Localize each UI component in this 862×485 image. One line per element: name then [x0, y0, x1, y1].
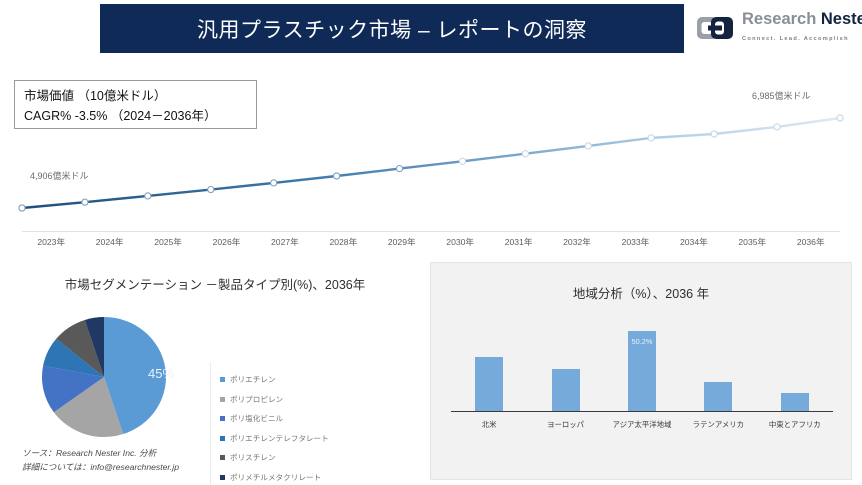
- segmentation-title: 市場セグメンテーション －製品タイプ別(%)、2036年: [10, 262, 420, 295]
- legend-item-label: ポリスチレン: [230, 452, 276, 463]
- legend-item: ポリメチルメタクリレート: [220, 468, 398, 485]
- line-chart-x-axis: 2023年2024年2025年2026年2027年2028年2029年2030年…: [22, 236, 840, 252]
- regional-bar-chart: 50.2% 北米ヨーロッパアジア太平洋地域ラテンアメリカ中東とアフリカ: [451, 321, 833, 433]
- bar-series: 50.2%: [451, 321, 833, 411]
- line-data-point: [711, 131, 717, 137]
- legend-item: ポリエチレンテレフタレート: [220, 429, 398, 449]
- line-data-point: [648, 135, 654, 141]
- regional-analysis-title: 地域分析（%）、2036 年: [431, 263, 851, 304]
- x-axis-tick: 2035年: [723, 236, 781, 252]
- x-axis-tick: 2027年: [256, 236, 314, 252]
- bar-value-label: 50.2%: [631, 337, 652, 346]
- bar: [704, 382, 732, 411]
- legend-swatch-icon: [220, 455, 225, 460]
- line-data-point: [774, 124, 780, 130]
- line-data-point: [334, 173, 340, 179]
- bar: 50.2%: [628, 331, 656, 411]
- legend-item: ポリ塩化ビニル: [220, 409, 398, 429]
- source-line-1: ソース：Research Nester Inc. 分析: [22, 447, 179, 461]
- line-chart-axis-rule: [22, 231, 840, 232]
- bar-chart-x-labels: 北米ヨーロッパアジア太平洋地域ラテンアメリカ中東とアフリカ: [451, 419, 833, 430]
- source-note: ソース：Research Nester Inc. 分析 詳細については：info…: [22, 447, 179, 474]
- line-data-point: [145, 193, 151, 199]
- x-axis-tick: 2025年: [139, 236, 197, 252]
- bar-category-label: 北米: [454, 419, 524, 430]
- line-data-point: [522, 151, 528, 157]
- x-axis-tick: 2028年: [314, 236, 372, 252]
- line-data-point: [837, 115, 843, 121]
- pie-slice-value-label: 45%: [148, 366, 174, 381]
- line-data-point: [271, 180, 277, 186]
- legend-item-label: ポリメチルメタクリレート: [230, 472, 321, 483]
- brand-logo-text: Research Nester Connect. Lead. Accomplis…: [742, 11, 862, 44]
- header-banner: 汎用プラスチック市場 – レポートの洞察: [100, 4, 684, 53]
- x-axis-tick: 2034年: [665, 236, 723, 252]
- legend-swatch-icon: [220, 377, 225, 382]
- bar-category-label: 中東とアフリカ: [760, 419, 830, 430]
- legend-item-label: ポリエチレンテレフタレート: [230, 433, 329, 444]
- legend-swatch-icon: [220, 416, 225, 421]
- line-data-point: [82, 199, 88, 205]
- bar: [552, 369, 580, 411]
- legend-item: ポリスチレン: [220, 448, 398, 468]
- page-title: 汎用プラスチック市場 – レポートの洞察: [197, 14, 587, 44]
- bar: [781, 393, 809, 411]
- bar-column: [454, 321, 524, 411]
- line-start-value-label: 4,906億米ドル: [30, 169, 89, 182]
- legend-item-label: ポリ塩化ビニル: [230, 413, 283, 424]
- legend-item-label: ポリプロピレン: [230, 394, 283, 405]
- x-axis-tick: 2031年: [489, 236, 547, 252]
- report-infographic-page: 汎用プラスチック市場 – レポートの洞察 Research Nester Con…: [0, 0, 862, 485]
- legend-item: ポリプロピレン: [220, 390, 398, 410]
- x-axis-tick: 2033年: [606, 236, 664, 252]
- bar-category-label: ラテンアメリカ: [683, 419, 753, 430]
- x-axis-tick: 2029年: [373, 236, 431, 252]
- legend-divider: [210, 362, 211, 485]
- line-end-value-label: 6,985億米ドル: [752, 89, 811, 102]
- bar-category-label: ヨーロッパ: [531, 419, 601, 430]
- brand-tagline: Connect. Lead. Accomplish: [742, 36, 849, 42]
- legend-item: ポリエチレン: [220, 370, 398, 390]
- legend-item-label: ポリエチレン: [230, 374, 276, 385]
- line-data-point: [459, 158, 465, 164]
- x-axis-tick: 2023年: [22, 236, 80, 252]
- regional-analysis-panel: 地域分析（%）、2036 年 50.2% 北米ヨーロッパアジア太平洋地域ラテンア…: [430, 262, 852, 480]
- bar-category-label: アジア太平洋地域: [607, 419, 677, 430]
- x-axis-tick: 2030年: [431, 236, 489, 252]
- x-axis-tick: 2036年: [781, 236, 839, 252]
- bar-column: 50.2%: [607, 321, 677, 411]
- line-data-point: [396, 166, 402, 172]
- bar-chart-baseline: [451, 411, 833, 412]
- line-data-point: [19, 205, 25, 211]
- segmentation-pie-area: 45% ポリエチレンポリプロピレンポリ塩化ビニルポリエチレンテレフタレートポリス…: [10, 314, 420, 439]
- source-line-2: 詳細については：info@researchnester.jp: [22, 461, 179, 475]
- bar-column: [760, 321, 830, 411]
- legend-swatch-icon: [220, 397, 225, 402]
- legend-swatch-icon: [220, 436, 225, 441]
- market-value-line-chart: [0, 60, 862, 235]
- line-data-point: [208, 187, 214, 193]
- legend-swatch-icon: [220, 475, 225, 480]
- bar: [475, 357, 503, 411]
- x-axis-tick: 2024年: [80, 236, 138, 252]
- pie-legend: ポリエチレンポリプロピレンポリ塩化ビニルポリエチレンテレフタレートポリスチレンポ…: [220, 370, 398, 485]
- x-axis-tick: 2032年: [548, 236, 606, 252]
- x-axis-tick: 2026年: [197, 236, 255, 252]
- bar-column: [683, 321, 753, 411]
- line-data-point: [585, 143, 591, 149]
- brand-name: Research Nester: [742, 10, 862, 28]
- brand-logo: Research Nester Connect. Lead. Accomplis…: [697, 11, 862, 44]
- research-nester-logo-icon: [697, 15, 735, 41]
- bar-column: [531, 321, 601, 411]
